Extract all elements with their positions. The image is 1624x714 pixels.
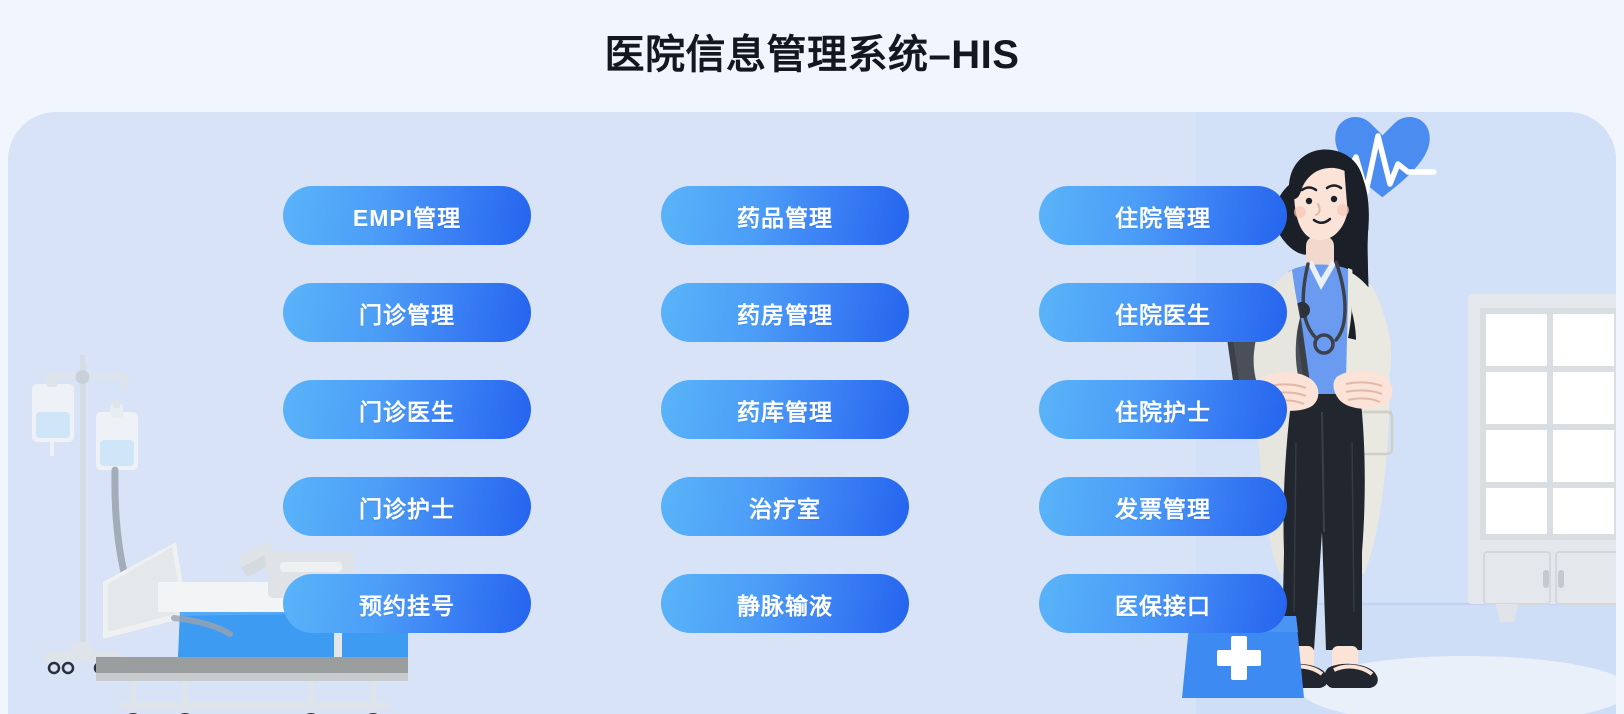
menu-button-intravenous-infusion[interactable]: 静脉输液: [661, 574, 909, 633]
menu-button-inpatient-management[interactable]: 住院管理: [1039, 186, 1287, 245]
menu-button-treatment-room[interactable]: 治疗室: [661, 477, 909, 536]
menu-button-drug-management[interactable]: 药品管理: [661, 186, 909, 245]
menu-button-appointment-registration[interactable]: 预约挂号: [283, 574, 531, 633]
menu-button-invoice-management[interactable]: 发票管理: [1039, 477, 1287, 536]
page-title: 医院信息管理系统–HIS: [0, 28, 1624, 82]
menu-button-medical-insurance-interface[interactable]: 医保接口: [1039, 574, 1287, 633]
app-root: 医院信息管理系统–HIS: [0, 0, 1624, 714]
module-button-grid: EMPI管理 药品管理 住院管理 门诊管理 药房管理 住院医生 门诊医生 药库管…: [283, 186, 1293, 671]
menu-button-outpatient-management[interactable]: 门诊管理: [283, 283, 531, 342]
menu-button-drug-warehouse-management[interactable]: 药库管理: [661, 380, 909, 439]
medicine-cabinet: [1468, 294, 1616, 622]
menu-button-inpatient-doctor[interactable]: 住院医生: [1039, 283, 1287, 342]
main-panel: EMPI管理 药品管理 住院管理 门诊管理 药房管理 住院医生 门诊医生 药库管…: [8, 112, 1616, 714]
menu-button-outpatient-doctor[interactable]: 门诊医生: [283, 380, 531, 439]
menu-button-inpatient-nurse[interactable]: 住院护士: [1039, 380, 1287, 439]
menu-button-outpatient-nurse[interactable]: 门诊护士: [283, 477, 531, 536]
iv-bag-right: [96, 400, 141, 617]
menu-button-pharmacy-management[interactable]: 药房管理: [661, 283, 909, 342]
iv-bag-left: [32, 378, 74, 456]
iv-stand: [44, 355, 128, 673]
heartbeat-heart-icon: [1324, 117, 1434, 197]
menu-button-empi-management[interactable]: EMPI管理: [283, 186, 531, 245]
